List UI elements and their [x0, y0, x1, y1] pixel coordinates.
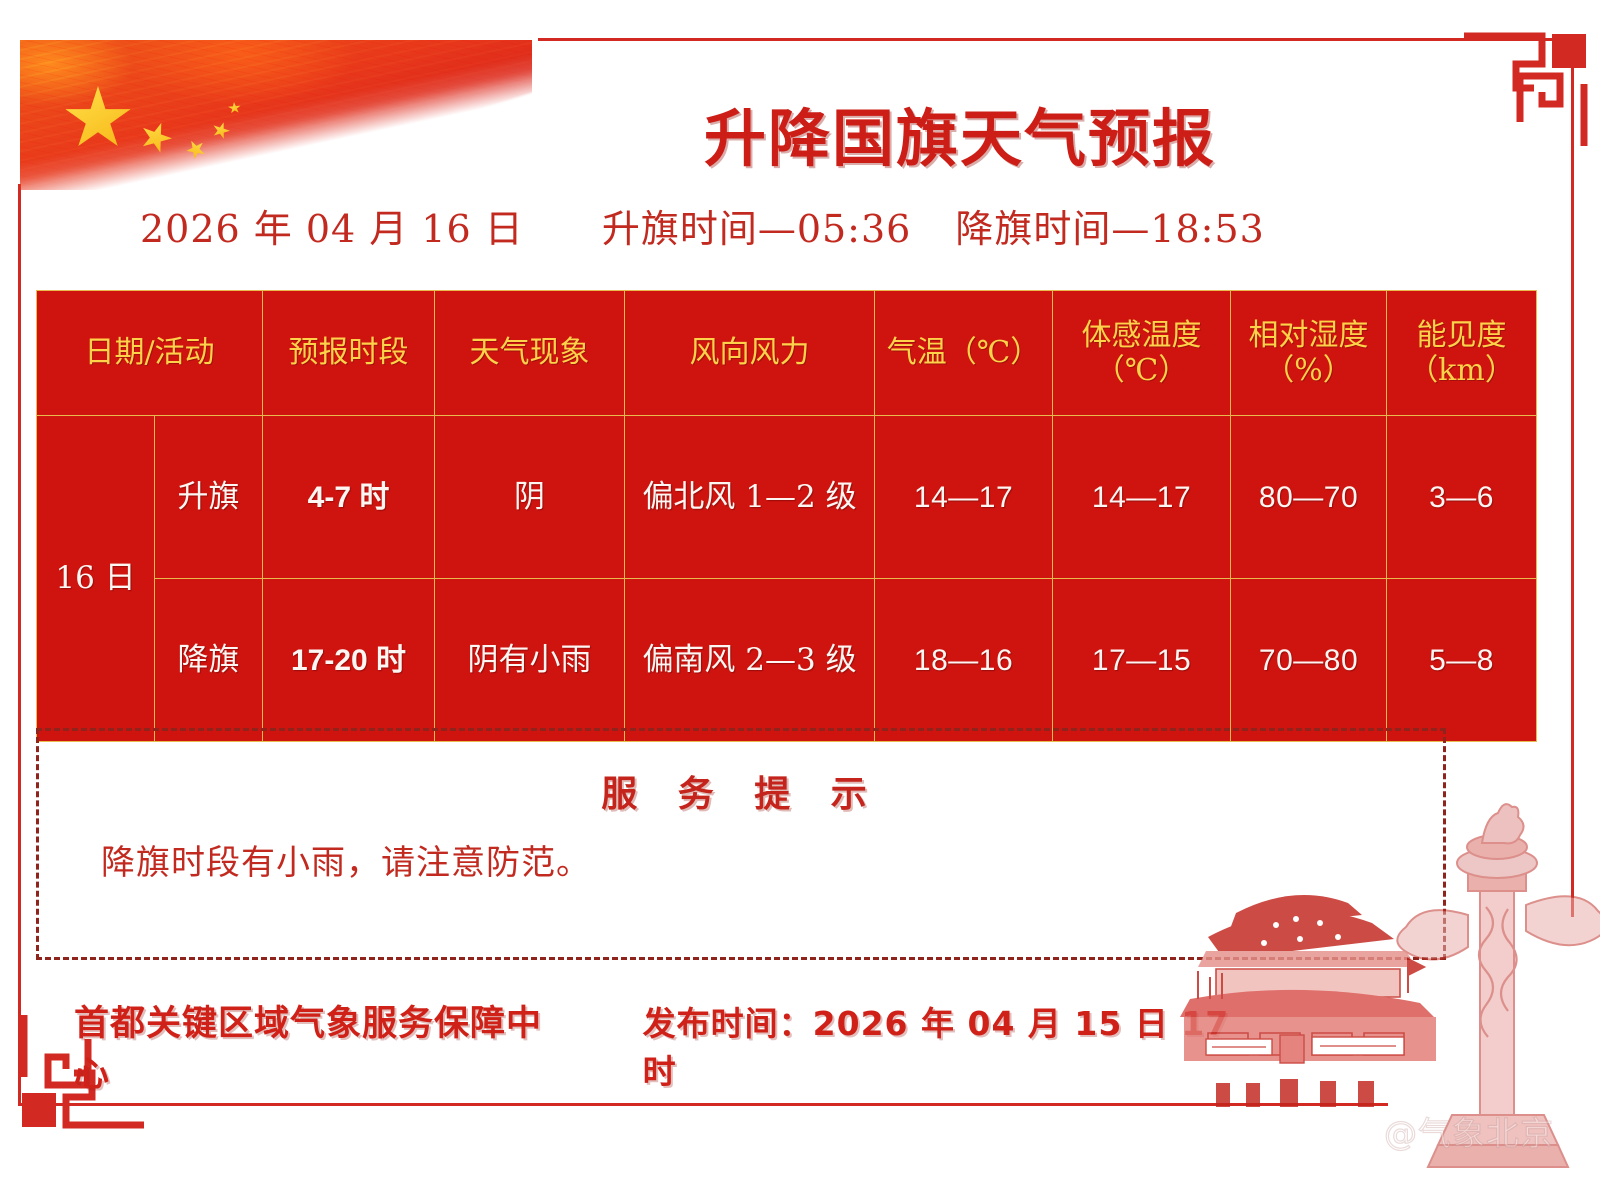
col-header-feels-like: 体感温度 （℃） — [1053, 291, 1231, 416]
cell-phenomenon-lower: 阴有小雨 — [435, 579, 625, 742]
cell-temperature-raise: 14—17 — [875, 416, 1053, 579]
cell-period-raise: 4-7 时 — [263, 416, 435, 579]
service-tips-panel: 服 务 提 示 降旗时段有小雨，请注意防范。 — [36, 728, 1446, 960]
weibo-eye-icon — [1332, 1114, 1376, 1148]
cell-wind-lower: 偏南风 2—3 级 — [625, 579, 875, 742]
col-header-feels-like-line2: （℃） — [1095, 353, 1189, 388]
forecast-date: 2026 年 04 月 16 日 — [140, 198, 524, 253]
col-header-humidity-line1: 相对湿度 — [1249, 318, 1369, 353]
cell-phenomenon-raise: 阴 — [435, 416, 625, 579]
col-header-humidity-line2: （%） — [1264, 353, 1353, 388]
page-title: 升降国旗天气预报 — [500, 88, 1420, 178]
col-header-phenomenon: 天气现象 — [435, 291, 625, 416]
cell-feels-like-lower: 17—15 — [1053, 579, 1231, 742]
cell-visibility-lower: 5—8 — [1387, 579, 1537, 742]
service-tips-body: 降旗时段有小雨，请注意防范。 — [101, 835, 591, 884]
weibo-watermark: @气象北京 — [1332, 1107, 1554, 1155]
table-row: 16 日 升旗 4-7 时 阴 偏北风 1—2 级 14—17 14—17 80… — [37, 416, 1537, 579]
cell-humidity-lower: 70—80 — [1231, 579, 1387, 742]
cell-activity-raise: 升旗 — [155, 416, 263, 579]
flag-raise-time: 升旗时间—05:36 — [602, 198, 912, 253]
china-flag-banner — [20, 40, 532, 190]
flag-lower-time: 降旗时间—18:53 — [955, 198, 1265, 253]
cell-wind-raise: 偏北风 1—2 级 — [625, 416, 875, 579]
forecast-table-body: 16 日 升旗 4-7 时 阴 偏北风 1—2 级 14—17 14—17 80… — [37, 416, 1537, 742]
corner-ornament-top-right-icon — [1464, 26, 1594, 150]
cell-visibility-raise: 3—6 — [1387, 416, 1537, 579]
cell-day-label: 16 日 — [37, 416, 155, 742]
cell-activity-lower: 降旗 — [155, 579, 263, 742]
col-header-temperature: 气温（℃） — [875, 291, 1053, 416]
forecast-table-head: 日期/活动 预报时段 天气现象 风向风力 气温（℃） 体感温度 （℃） 相对湿度… — [37, 291, 1537, 416]
col-header-wind: 风向风力 — [625, 291, 875, 416]
col-header-period: 预报时段 — [263, 291, 435, 416]
col-header-visibility-line1: 能见度 — [1417, 318, 1507, 353]
forecast-table: 日期/活动 预报时段 天气现象 风向风力 气温（℃） 体感温度 （℃） 相对湿度… — [36, 290, 1537, 742]
cell-period-lower: 17-20 时 — [263, 579, 435, 742]
table-row: 降旗 17-20 时 阴有小雨 偏南风 2—3 级 18—16 17—15 70… — [37, 579, 1537, 742]
footer-publish-time: 发布时间：2026 年 04 月 15 日 17 时 — [643, 997, 1274, 1093]
table-header-row: 日期/活动 预报时段 天气现象 风向风力 气温（℃） 体感温度 （℃） 相对湿度… — [37, 291, 1537, 416]
weibo-handle: @气象北京 — [1384, 1107, 1554, 1155]
col-header-feels-like-line1: 体感温度 — [1082, 318, 1202, 353]
footer: 首都关键区域气象服务保障中心 发布时间：2026 年 04 月 15 日 17 … — [74, 995, 1274, 1097]
footer-organization: 首都关键区域气象服务保障中心 — [74, 995, 577, 1097]
cell-temperature-lower: 18—16 — [875, 579, 1053, 742]
col-header-date-activity: 日期/活动 — [37, 291, 263, 416]
service-tips-title: 服 务 提 示 — [39, 765, 1443, 817]
cell-feels-like-raise: 14—17 — [1053, 416, 1231, 579]
col-header-visibility-line2: （km） — [1408, 353, 1515, 388]
cell-humidity-raise: 80—70 — [1231, 416, 1387, 579]
col-header-humidity: 相对湿度 （%） — [1231, 291, 1387, 416]
header-subline: 2026 年 04 月 16 日 升旗时间—05:36 降旗时间—18:53 — [140, 198, 1400, 253]
col-header-visibility: 能见度 （km） — [1387, 291, 1537, 416]
